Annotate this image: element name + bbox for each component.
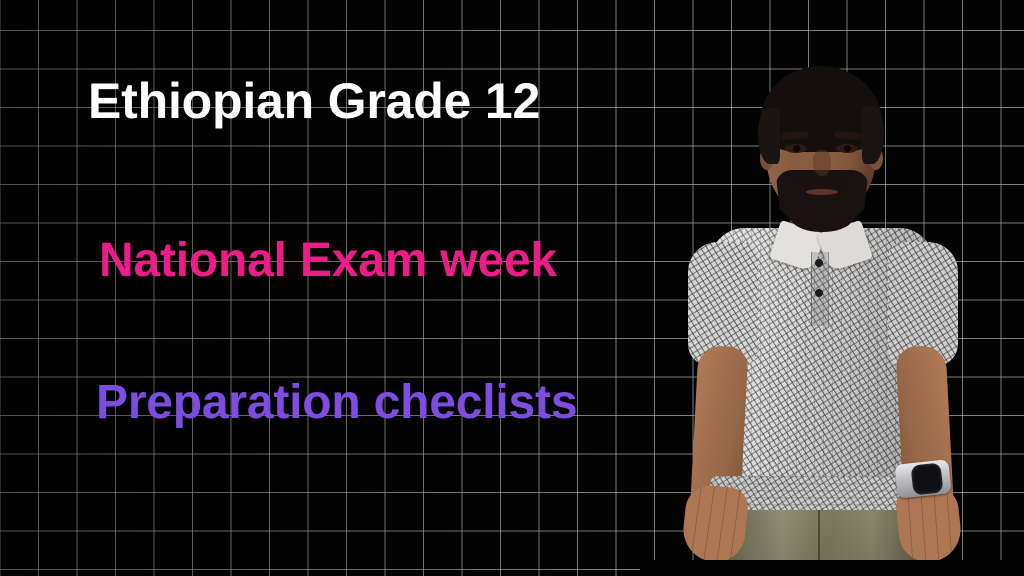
- page-title: Ethiopian Grade 12: [88, 76, 540, 126]
- subtitle-text: National Exam week: [99, 237, 557, 285]
- mouth: [806, 189, 838, 195]
- headline-group: Ethiopian Grade 12 National Exam week Pr…: [0, 0, 700, 576]
- tagline-text: Preparation checlists: [96, 379, 577, 427]
- nose: [813, 150, 831, 176]
- smartwatch-face: [911, 463, 944, 496]
- photo-bottom-crop: [640, 560, 1024, 576]
- mustache: [798, 176, 846, 189]
- hair-fade-left: [758, 108, 780, 164]
- shirt-button-top: [815, 259, 823, 267]
- presenter-photo: [648, 46, 988, 560]
- hand-left: [680, 483, 750, 565]
- pupil-right: [844, 145, 851, 152]
- pupil-left: [793, 145, 800, 152]
- slide-canvas: Ethiopian Grade 12 National Exam week Pr…: [0, 0, 1024, 576]
- shirt-button-bottom: [815, 289, 823, 297]
